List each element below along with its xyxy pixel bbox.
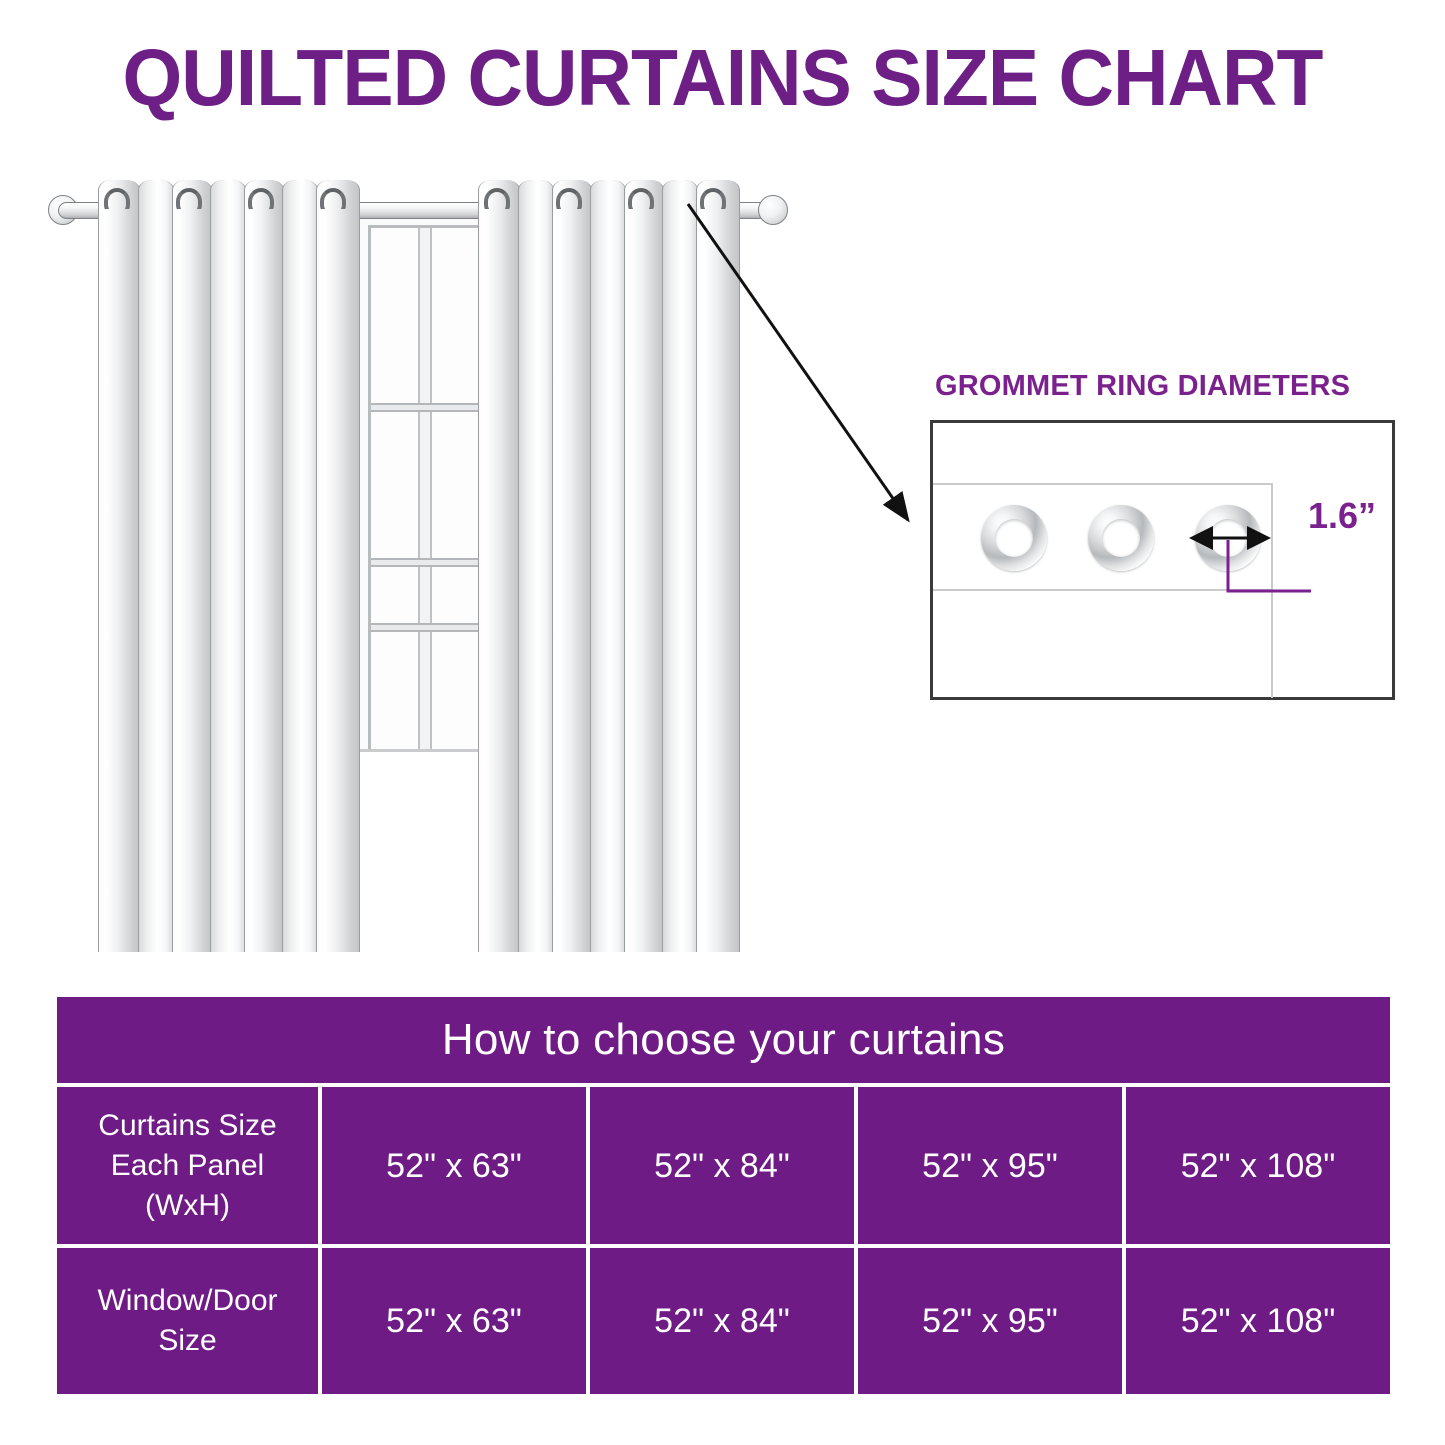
- row-label-line: Each Panel: [111, 1149, 264, 1182]
- window-mullion-vertical: [418, 228, 432, 749]
- size-table: How to choose your curtains Curtains Siz…: [57, 997, 1390, 1394]
- window-behind-curtains: [355, 212, 495, 752]
- row-label-window-door-size: Window/Door Size: [57, 1248, 322, 1394]
- right-curtain-panel: [478, 180, 740, 952]
- row-label-line: (WxH): [145, 1189, 230, 1222]
- table-cell-size: 52" x 63": [322, 1248, 590, 1394]
- grommet-detail-panel: GROMMET RING DIAMETERS: [930, 370, 1400, 710]
- row-label-line: Window/Door: [97, 1284, 277, 1317]
- window-mullion-horizontal-1: [371, 403, 479, 412]
- curtain-illustration: [0, 150, 900, 980]
- table-cell-size: 52" x 108": [1126, 1087, 1390, 1244]
- size-chart-page: QUILTED CURTAINS SIZE CHART: [0, 0, 1445, 1445]
- grommet-panel-heading: GROMMET RING DIAMETERS: [935, 370, 1400, 403]
- dimension-callout: [933, 423, 1398, 703]
- row-label-line: Curtains Size: [98, 1109, 276, 1142]
- page-title: QUILTED CURTAINS SIZE CHART: [29, 33, 1416, 123]
- grommet-box: [930, 420, 1395, 700]
- window-mullion-horizontal-3: [371, 623, 479, 632]
- rod-finial-right-icon: [758, 195, 788, 225]
- window-inner-frame: [368, 225, 482, 749]
- table-cell-size: 52" x 84": [590, 1248, 858, 1394]
- table-cell-size: 52" x 84": [590, 1087, 858, 1244]
- table-row: Window/Door Size 52" x 63" 52" x 84" 52"…: [57, 1248, 1390, 1394]
- grommet-diameter-label: 1.6”: [1308, 495, 1376, 537]
- table-header: How to choose your curtains: [57, 997, 1390, 1083]
- table-row: Curtains Size Each Panel (WxH) 52" x 63"…: [57, 1087, 1390, 1244]
- row-label-curtain-size: Curtains Size Each Panel (WxH): [57, 1087, 322, 1244]
- table-cell-size: 52" x 63": [322, 1087, 590, 1244]
- left-curtain-panel: [98, 180, 360, 952]
- row-label-line: Size: [158, 1324, 216, 1357]
- table-cell-size: 52" x 95": [858, 1248, 1126, 1394]
- window-mullion-horizontal-2: [371, 558, 479, 567]
- table-cell-size: 52" x 108": [1126, 1248, 1390, 1394]
- table-cell-size: 52" x 95": [858, 1087, 1126, 1244]
